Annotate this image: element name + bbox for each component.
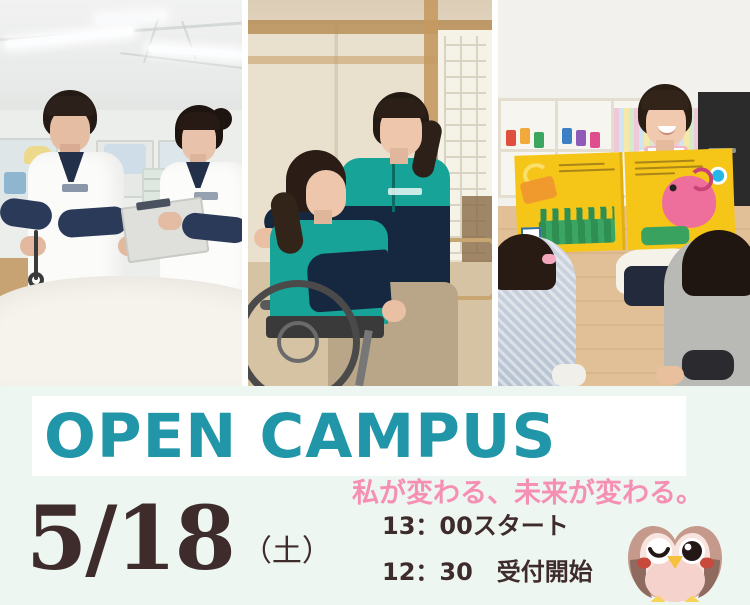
event-date-dayofweek: （土） bbox=[242, 526, 332, 570]
photo-picture-book bbox=[498, 0, 750, 386]
book-text-line bbox=[559, 163, 605, 167]
seated-student-neck bbox=[314, 210, 332, 224]
toy-block bbox=[520, 128, 530, 144]
book-text-line bbox=[635, 165, 703, 169]
book-text-line bbox=[635, 172, 675, 175]
male-student-hand bbox=[20, 236, 46, 256]
lab-equipment bbox=[4, 172, 26, 194]
child-right-foot bbox=[656, 366, 684, 384]
photo-medical-lab bbox=[0, 0, 242, 386]
patient-bed-sheet bbox=[0, 276, 242, 386]
child-right-pants bbox=[682, 350, 734, 380]
open-campus-poster: OPEN CAMPUS 私が変わる、未来が変わる。 5/18 （土） 13：00… bbox=[0, 0, 750, 605]
uniform-logo bbox=[62, 184, 88, 192]
teacher-fringe bbox=[641, 90, 689, 110]
jersey-zipper bbox=[392, 158, 395, 212]
event-start-time: 13：00スタート bbox=[382, 514, 593, 538]
child-left-sock bbox=[552, 364, 586, 386]
toy-block bbox=[506, 130, 516, 146]
book-text-line bbox=[635, 160, 695, 164]
toy-block bbox=[576, 130, 586, 146]
female-student-fringe bbox=[178, 112, 220, 130]
event-reception-time: 12：30 受付開始 bbox=[382, 560, 593, 584]
child-right-hair bbox=[682, 230, 750, 296]
tagline: 私が変わる、未来が変わる。 bbox=[352, 471, 703, 510]
toy-block bbox=[590, 132, 600, 148]
photo-strip bbox=[0, 0, 750, 386]
toy-block bbox=[562, 128, 572, 144]
event-date-number: 5/18 bbox=[26, 498, 234, 579]
owl-mascot bbox=[622, 518, 728, 602]
toy-block bbox=[534, 132, 544, 148]
male-student-sleeve bbox=[57, 206, 129, 239]
page-title: OPEN CAMPUS bbox=[44, 396, 704, 476]
caregiver-neck bbox=[390, 148, 408, 164]
event-times: 13：00スタート 12：30 受付開始 bbox=[382, 514, 593, 605]
caregiver-fringe bbox=[376, 98, 426, 118]
male-student-fringe bbox=[46, 96, 94, 116]
event-date: 5/18 （土） bbox=[26, 498, 332, 579]
photo-wheelchair-care bbox=[248, 0, 492, 386]
seated-student-hand bbox=[382, 300, 406, 322]
jersey-logo bbox=[388, 188, 422, 195]
book-text-line bbox=[559, 168, 615, 172]
female-student-hand bbox=[158, 212, 182, 230]
book-grass-art bbox=[641, 226, 690, 246]
child-left-hairclip bbox=[542, 254, 556, 264]
